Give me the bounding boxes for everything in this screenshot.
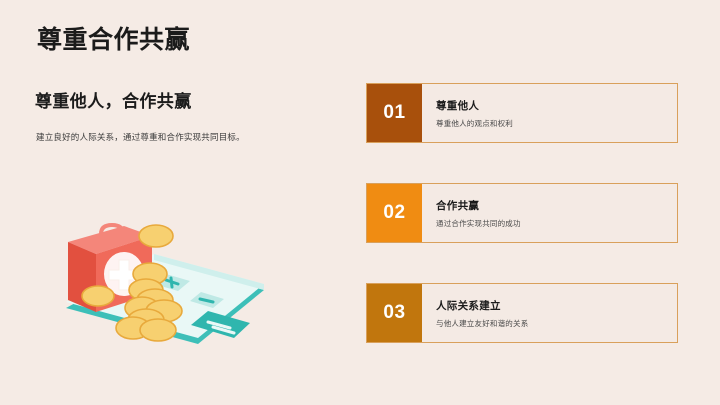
feature-card-03[interactable]: 03 人际关系建立 与他人建立友好和谐的关系 [366, 283, 678, 343]
card-body-03: 人际关系建立 与他人建立友好和谐的关系 [422, 284, 677, 342]
card-heading-01: 尊重他人 [436, 98, 677, 113]
card-heading-03: 人际关系建立 [436, 298, 677, 313]
feature-card-01[interactable]: 01 尊重他人 尊重他人的观点和权利 [366, 83, 678, 143]
card-description-03: 与他人建立友好和谐的关系 [436, 318, 677, 329]
card-number-badge-01: 01 [367, 84, 422, 142]
first-aid-kit-coins-calculator-illustration [38, 212, 300, 362]
slide-root: 尊重合作共赢 尊重他人，合作共赢 建立良好的人际关系，通过尊重和合作实现共同目标… [0, 0, 720, 405]
card-description-02: 通过合作实现共同的成功 [436, 218, 677, 229]
card-heading-02: 合作共赢 [436, 198, 677, 213]
card-number-badge-02: 02 [367, 184, 422, 242]
page-title: 尊重合作共赢 [37, 27, 190, 55]
card-description-01: 尊重他人的观点和权利 [436, 118, 677, 129]
feature-card-02[interactable]: 02 合作共赢 通过合作实现共同的成功 [366, 183, 678, 243]
section-subtitle: 尊重他人，合作共赢 [35, 92, 192, 112]
card-body-02: 合作共赢 通过合作实现共同的成功 [422, 184, 677, 242]
card-number-badge-03: 03 [367, 284, 422, 342]
feature-card-list: 01 尊重他人 尊重他人的观点和权利 02 合作共赢 通过合作实现共同的成功 0… [366, 83, 678, 343]
section-body-text: 建立良好的人际关系，通过尊重和合作实现共同目标。 [36, 132, 245, 144]
card-body-01: 尊重他人 尊重他人的观点和权利 [422, 84, 677, 142]
